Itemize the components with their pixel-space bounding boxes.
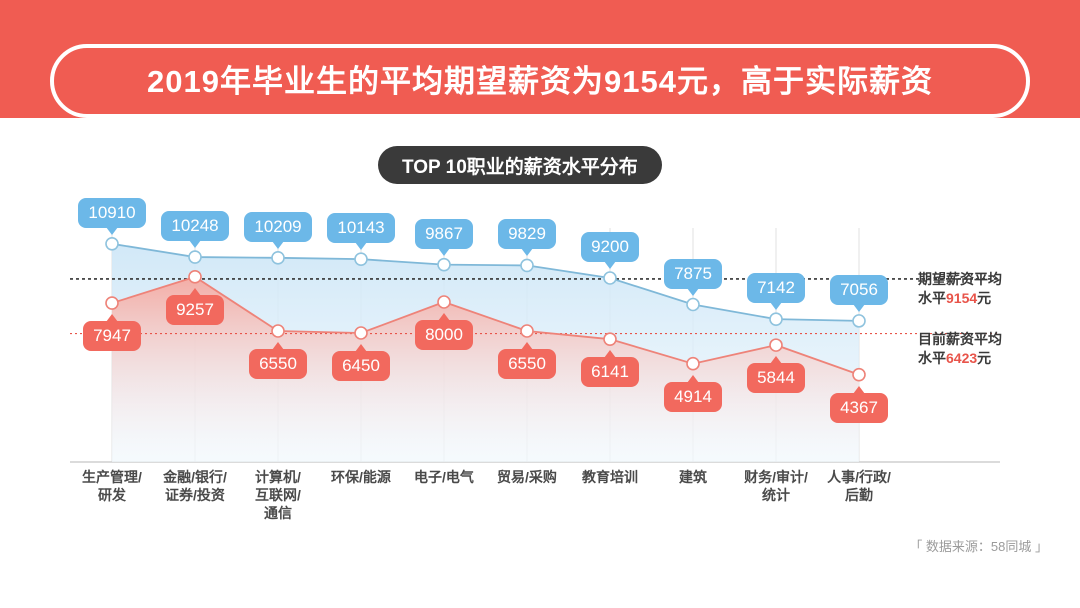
value-badge: 10209 bbox=[244, 212, 312, 242]
value-badge: 4367 bbox=[830, 393, 888, 423]
badge-pointer bbox=[438, 248, 450, 256]
badge-pointer bbox=[521, 248, 533, 256]
value-badge: 10143 bbox=[327, 213, 395, 243]
annotation-current-line1: 目前薪资平均 bbox=[918, 330, 1038, 349]
chart-plot bbox=[70, 228, 1000, 462]
annotation-expected-line1: 期望薪资平均 bbox=[918, 270, 1038, 289]
badge-pointer bbox=[687, 288, 699, 296]
annotation-expected: 期望薪资平均 水平9154元 bbox=[918, 270, 1038, 308]
value-badge: 10248 bbox=[161, 211, 229, 241]
chart-subtitle-label: TOP 10职业的薪资水平分布 bbox=[402, 152, 638, 179]
value-badge: 9257 bbox=[166, 295, 224, 325]
page-title: 2019年毕业生的平均期望薪资为9154元，高于实际薪资 bbox=[147, 66, 933, 97]
annotation-expected-line2: 水平9154元 bbox=[918, 289, 1038, 308]
annotation-current: 目前薪资平均 水平6423元 bbox=[918, 330, 1038, 368]
value-badge: 7947 bbox=[83, 321, 141, 351]
badge-pointer bbox=[853, 304, 865, 312]
title-pill: 2019年毕业生的平均期望薪资为9154元，高于实际薪资 bbox=[50, 44, 1030, 118]
x-axis-label: 人事/行政/后勤 bbox=[804, 468, 914, 504]
value-badge: 8000 bbox=[415, 320, 473, 350]
value-badge: 9867 bbox=[415, 219, 473, 249]
badge-pointer bbox=[687, 375, 699, 383]
annotation-current-line2: 水平6423元 bbox=[918, 349, 1038, 368]
x-axis-label-line: 后勤 bbox=[804, 486, 914, 504]
value-badge: 4914 bbox=[664, 382, 722, 412]
badge-pointer bbox=[770, 356, 782, 364]
annotation-current-prefix: 水平 bbox=[918, 350, 946, 366]
x-axis-label-line: 人事/行政/ bbox=[804, 468, 914, 486]
badge-pointer bbox=[355, 344, 367, 352]
value-badge: 7875 bbox=[664, 259, 722, 289]
badge-pointer bbox=[272, 342, 284, 350]
x-axis-label-line: 互联网/ bbox=[223, 486, 333, 504]
badge-pointer bbox=[521, 342, 533, 350]
annotation-expected-prefix: 水平 bbox=[918, 290, 946, 306]
infographic-root: 2019年毕业生的平均期望薪资为9154元，高于实际薪资 TOP 10职业的薪资… bbox=[0, 0, 1080, 608]
badge-pointer bbox=[355, 242, 367, 250]
value-badge: 9829 bbox=[498, 219, 556, 249]
badge-pointer bbox=[106, 227, 118, 235]
badge-pointer bbox=[189, 288, 201, 296]
value-badge: 6450 bbox=[332, 351, 390, 381]
badge-pointer bbox=[106, 314, 118, 322]
badge-pointer bbox=[189, 240, 201, 248]
value-badge: 7142 bbox=[747, 273, 805, 303]
value-badge: 5844 bbox=[747, 363, 805, 393]
value-badge: 10910 bbox=[78, 198, 146, 228]
annotation-expected-value: 9154 bbox=[946, 290, 977, 306]
title-band: 2019年毕业生的平均期望薪资为9154元，高于实际薪资 bbox=[0, 0, 1080, 118]
value-badge: 6550 bbox=[498, 349, 556, 379]
annotation-current-suffix: 元 bbox=[977, 350, 991, 366]
badge-pointer bbox=[272, 241, 284, 249]
x-axis-label-line: 通信 bbox=[223, 504, 333, 522]
x-axis-label-layer: 生产管理/研发金融/银行/证券/投资计算机/互联网/通信环保/能源电子/电气贸易… bbox=[0, 468, 1080, 538]
chart-subtitle-badge: TOP 10职业的薪资水平分布 bbox=[378, 146, 662, 184]
value-badge: 7056 bbox=[830, 275, 888, 305]
value-badge: 9200 bbox=[581, 232, 639, 262]
annotation-current-value: 6423 bbox=[946, 350, 977, 366]
badge-pointer bbox=[438, 313, 450, 321]
value-badge: 6550 bbox=[249, 349, 307, 379]
source-note: 「 数据来源：58同城 」 bbox=[909, 536, 1048, 555]
badge-pointer bbox=[853, 386, 865, 394]
annotation-expected-suffix: 元 bbox=[977, 290, 991, 306]
value-badge: 6141 bbox=[581, 357, 639, 387]
badge-pointer bbox=[770, 302, 782, 310]
badge-pointer bbox=[604, 261, 616, 269]
badge-pointer bbox=[604, 350, 616, 358]
